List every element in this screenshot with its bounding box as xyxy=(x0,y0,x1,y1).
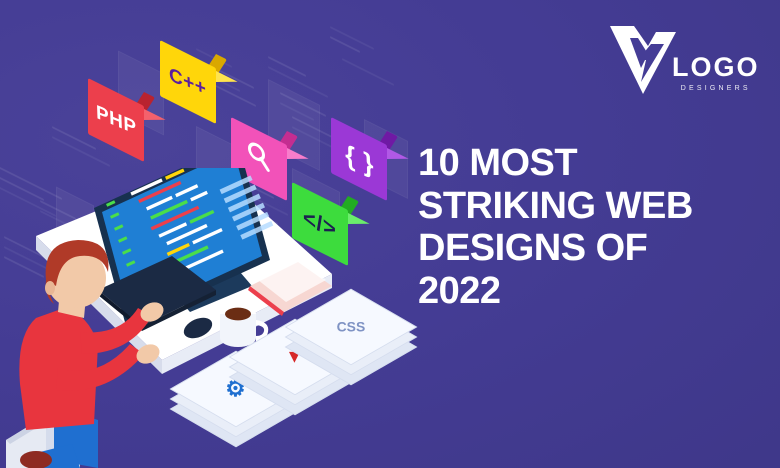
promo-banner: PHPC++{ }</> xyxy=(0,0,780,468)
brand-logo[interactable]: LOGO DESIGNERS xyxy=(608,24,758,102)
tech-card-php-label: PHP xyxy=(95,102,136,138)
page-title-line-4: 2022 xyxy=(418,270,768,313)
v-lightning-mark-icon xyxy=(608,24,678,96)
tech-card-cpp-face: C++ xyxy=(160,40,216,124)
page-title: 10 MOSTSTRIKING WEBDESIGNS OF2022 xyxy=(418,142,768,312)
tech-card-cpp-label: C++ xyxy=(169,65,207,100)
page-title-line-2: STRIKING WEB xyxy=(418,185,768,228)
stacked-block-css[interactable]: CSS xyxy=(314,288,388,362)
logo-word-sub: DESIGNERS xyxy=(672,85,760,92)
tech-card-php[interactable]: PHP xyxy=(88,92,144,148)
page-title-line-1: 10 MOST xyxy=(418,142,768,185)
tech-card-cpp[interactable]: C++ xyxy=(160,54,216,110)
page-title-line-3: DESIGNS OF xyxy=(418,227,768,270)
logo-word-main: LOGO xyxy=(672,54,760,81)
